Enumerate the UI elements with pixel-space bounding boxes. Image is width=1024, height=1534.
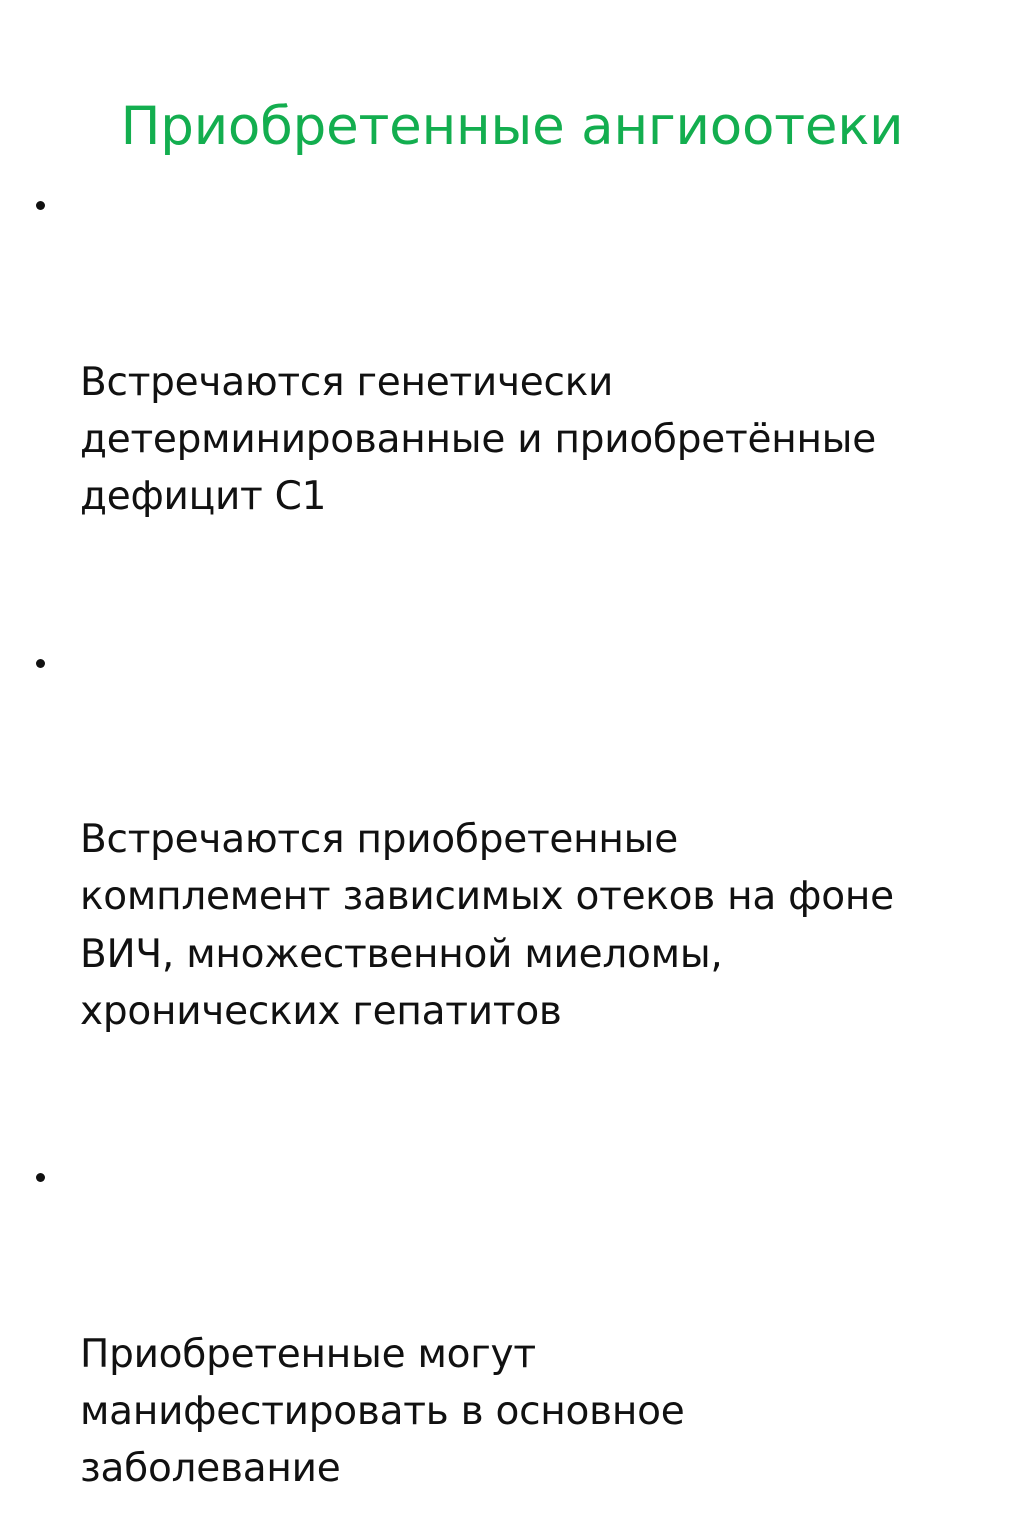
- bullet-list: Встречаются генетически детерминированны…: [0, 182, 1024, 1534]
- list-item-text: Встречаются приобретенные комплемент зав…: [80, 811, 914, 1040]
- list-item-text: Встречаются генетически детерминированны…: [80, 354, 914, 526]
- bullet-point-icon: [36, 1173, 45, 1182]
- list-item: Приобретенные могут манифестировать в ос…: [0, 1154, 1024, 1534]
- page-title: Приобретенные ангиоотеки: [0, 96, 1024, 158]
- list-item: Встречаются генетически детерминированны…: [0, 182, 1024, 640]
- bullet-point-icon: [36, 659, 45, 668]
- presentation-slide: Приобретенные ангиоотеки Встречаются ген…: [0, 0, 1024, 767]
- list-item: Встречаются приобретенные комплемент зав…: [0, 640, 1024, 1155]
- bullet-point-icon: [36, 201, 45, 210]
- list-item-text: Приобретенные могут манифестировать в ос…: [80, 1326, 914, 1498]
